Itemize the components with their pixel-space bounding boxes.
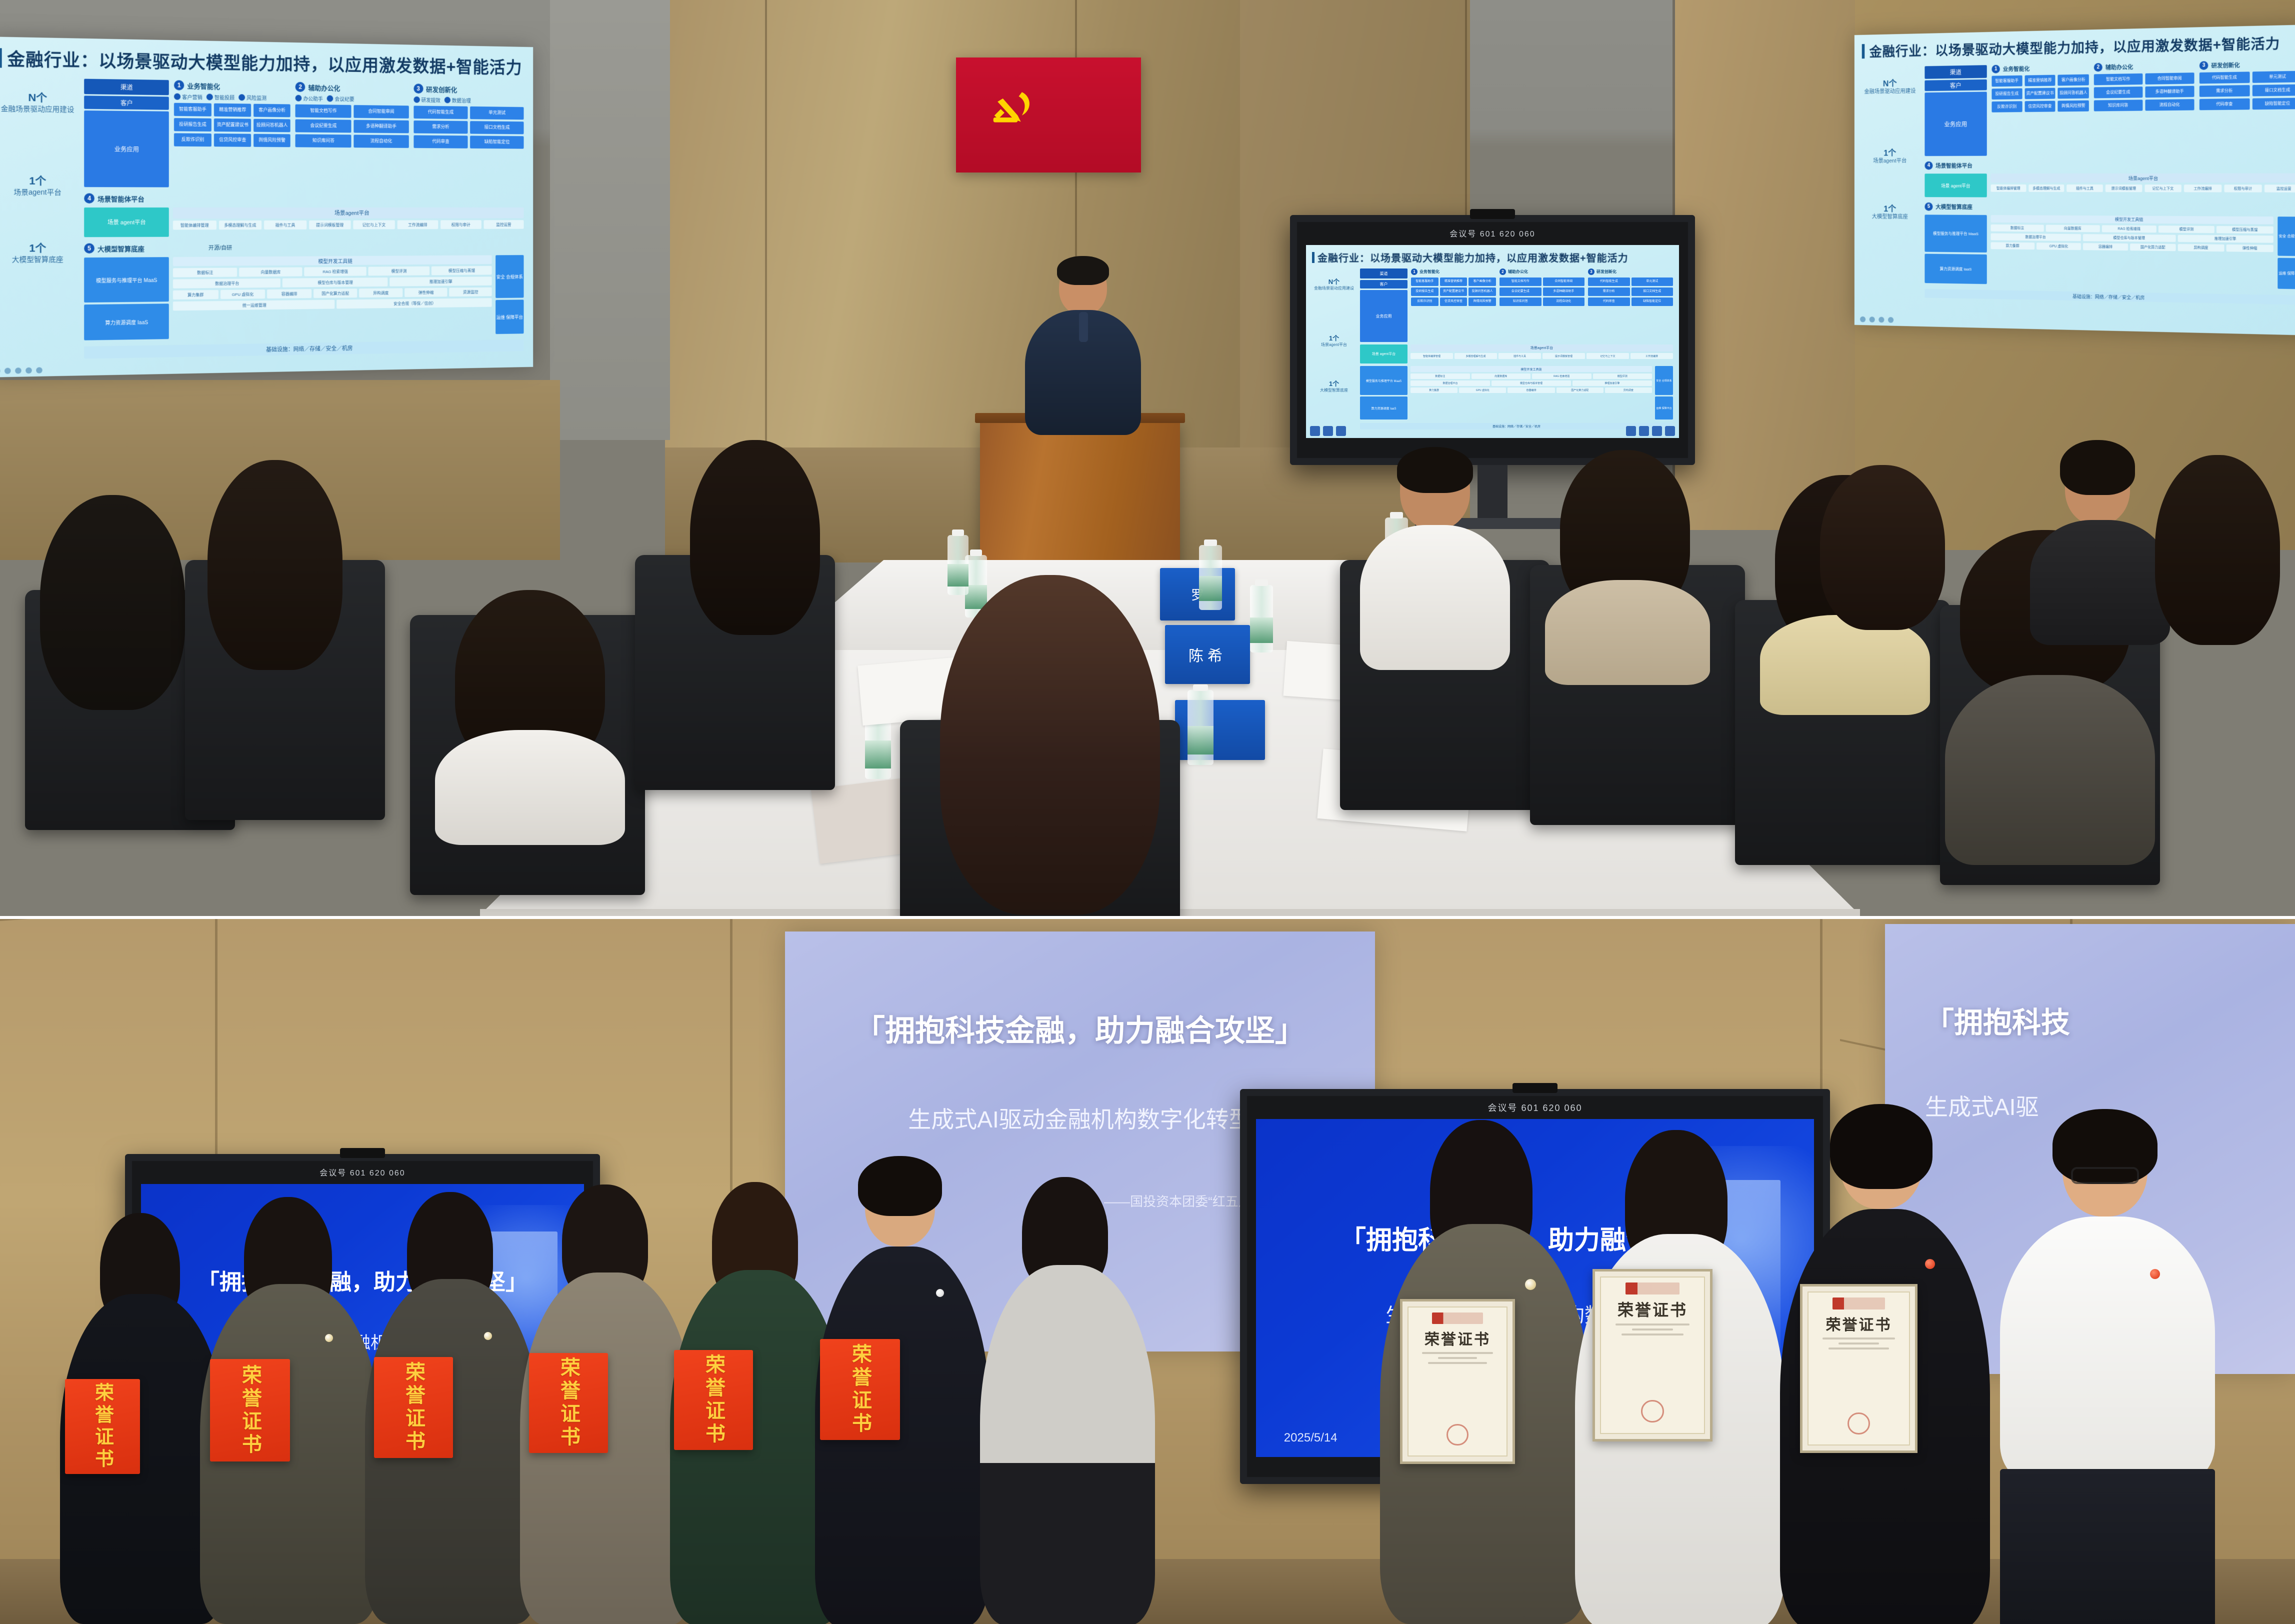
hammer-and-sickle-icon (982, 80, 1045, 133)
base-chip-row: 数据标注 向量数据库 RAG 检索增强 模型评测 (1410, 373, 1652, 379)
slide-toolbar[interactable] (1860, 316, 1893, 323)
base-note: 开源/自研 (208, 243, 232, 251)
tile: 知识库问答 (295, 134, 351, 147)
group-subheads: 客户营销 智能投顾 风险监测 (174, 92, 290, 101)
tile: 资产配置建议书 (2024, 88, 2055, 99)
agent-right: 场景agent平台 智能体编排管理 多模态理解与生成 插件与工具 提示词模板管理… (173, 207, 524, 237)
tv-display-panel: 金融行业：以场景驱动大模型能力加持，以应用激发数据+智能活力 N个 金融场景驱动… (1306, 245, 1679, 438)
tile: 舆情风险预警 (2058, 100, 2089, 112)
tile: 接口文档生成 (2252, 84, 2295, 96)
label-text: 场景agent平台 (0, 187, 77, 196)
tile: 缺陷智能定位 (1631, 297, 1673, 306)
label-text: 场景agent平台 (1312, 342, 1356, 347)
tile: 需求分析 (2199, 85, 2249, 97)
group-header: 2 辅助办公化 (295, 82, 409, 93)
base-chip: 数据治理平台 (173, 278, 280, 288)
torso (980, 1265, 1155, 1624)
tile-row: 代码审查 缺陷智能定位 (1588, 297, 1673, 306)
slide-right-column: 渠道 客户 业务应用 1 业务智能化 (1360, 268, 1673, 429)
base-side-cells: 安全 合规体系 运维 保障平台 (2277, 216, 2295, 289)
tv-meeting-id-label: 会议号 601 620 060 (132, 1166, 593, 1178)
scenario-cell-channel: 渠道 (84, 79, 169, 95)
official-seal (1847, 1412, 1869, 1434)
bullet-dot (174, 93, 180, 100)
scenario-row: 渠道 客户 业务应用 1 业务智能化 (1360, 268, 1673, 342)
name-placard-2: 陈希 (1165, 625, 1250, 684)
tile: 单元测试 (1631, 277, 1673, 286)
pen-icon[interactable] (0, 368, 0, 374)
agent-chip: 智能体编排管理 (173, 220, 216, 229)
tile-row: 投研报告生成 资产配置建议书 投顾问答机器人 (1411, 287, 1496, 296)
tile: 单元测试 (470, 106, 523, 120)
base-chip: 模型仓库与版本管理 (2083, 234, 2176, 242)
tile-row: 代码智能生成 单元测试 (2199, 71, 2295, 84)
tile-row: 智能客服助手 精准营销推荐 客户画像分析 (174, 103, 290, 117)
slide-body: N个 金融场景驱动应用建设 1个 场景agent平台 1个 大模型智算底座 (0, 77, 523, 360)
tile-row: 投研报告生成 资产配置建议书 投顾问答机器人 (174, 118, 290, 132)
subhead: 研发提效 (413, 96, 440, 103)
base-chip: 算力集群 (1410, 387, 1457, 393)
tile: 流程自动化 (1543, 297, 1585, 306)
base-chip: 资源监控 (449, 287, 492, 296)
scenario-group-3: 3 研发创新化 代码智能生成 单元测试 (1588, 268, 1673, 342)
agent-chip: 权限与审计 (440, 220, 481, 229)
projection-screen-left: 金融行业：以场景驱动大模型能力加持，以应用激发数据+智能活力 N个 金融场景驱动… (0, 36, 533, 377)
search-icon[interactable] (15, 367, 21, 374)
certificate-red: 荣誉证书 (529, 1353, 608, 1453)
section-name: 场景智能体平台 (97, 193, 144, 203)
base-side-cells: 安全 合规体系 运维 保障平台 (1655, 366, 1673, 419)
tile: 接口文档生成 (1631, 287, 1673, 296)
section-name: 大模型智算底座 (97, 243, 144, 253)
group-name: 研发创新化 (426, 84, 457, 93)
agent-platform-cell: 场景 agent平台 (1360, 344, 1407, 363)
subhead-label: 客户营销 (182, 93, 202, 101)
tile-grid: 代码智能生成 单元测试 需求分析 接口文档生成 代码审查 (413, 105, 523, 148)
subhead: 办公助手 (295, 94, 323, 102)
agent-chip: 提示词模板管理 (309, 220, 351, 229)
tile: 信贷风控审查 (214, 133, 251, 147)
tile: 投研报告生成 (1991, 88, 2022, 100)
agent-chip: 记忆与上下文 (1586, 353, 1629, 359)
slide-title-accent-bar (0, 48, 2, 67)
tile: 会议纪要生成 (2094, 86, 2142, 98)
agent-chip-row: 智能体编排管理 多模态理解与生成 插件与工具 提示词模板管理 记忆与上下文 工作… (173, 220, 524, 229)
camera-icon[interactable] (1639, 426, 1649, 436)
attendee-hair (690, 440, 820, 635)
group-header: 3 研发创新化 (413, 83, 523, 95)
base-chip: 向量数据库 (1471, 373, 1531, 379)
group-index-badge: 2 (295, 82, 305, 92)
tile-row: 智能文档写作 合同智能审阅 (2094, 72, 2194, 85)
tile-row: 知识库问答 流程自动化 (295, 134, 409, 148)
issuer-logo (1432, 1312, 1483, 1324)
more-icon[interactable] (36, 367, 42, 373)
tile-row: 会议纪要生成 多语种翻译助手 (1499, 287, 1584, 296)
slide-footer-bar: 基础设施：网络／存储／安全／机房 (84, 339, 523, 359)
base-chip-row: 数据治理平台 模型仓库与版本管理 推理加速引擎 (1410, 380, 1652, 386)
attendee (1810, 465, 1960, 685)
scenario-group-1: 1 业务智能化 客户营销 智能投顾 风险监测 (174, 80, 290, 187)
attendee-torso (1545, 580, 1710, 685)
pen-icon[interactable] (1860, 316, 1865, 322)
tile: 知识库问答 (1499, 297, 1541, 306)
base-chip: 模型仓库与版本管理 (1491, 380, 1571, 386)
tile: 客户画像分析 (1468, 277, 1496, 286)
base-chip: 统一运维管理 (173, 300, 334, 311)
party-flag (956, 57, 1141, 172)
base-chip: 数据治理平台 (1990, 233, 2080, 241)
tile: 投顾问答机器人 (1468, 287, 1496, 296)
tile-row: 智能文档写作 合同智能审阅 (1499, 277, 1584, 286)
section-index-badge: 4 (84, 193, 94, 203)
label-num: N个 (1312, 276, 1356, 286)
bottle-cap (952, 529, 964, 536)
certificate-red-text: 荣誉证书 (235, 1364, 264, 1456)
agent-row: 场景 agent平台 场景agent平台 智能体编排管理 多模态理解与生成 插件… (84, 207, 523, 237)
tile: 缺陷智能定位 (470, 135, 523, 148)
shape-icon[interactable] (25, 367, 32, 374)
attendee-hair (1820, 465, 1945, 630)
base-chip-row: 数据治理平台 模型仓库与版本管理 推理加速引擎 (173, 276, 492, 288)
more-icon[interactable] (1665, 426, 1675, 436)
base-chip-row: 数据标注 向量数据库 RAG 检索增强 模型评测 模型压缩与蒸馏 (1990, 224, 2273, 233)
subhead-label: 智能投顾 (214, 93, 234, 101)
attendee-hair (2155, 455, 2280, 645)
official-seal (1641, 1400, 1663, 1422)
tile: 客户画像分析 (253, 104, 290, 117)
base-chip: 弹性伸缩 (2226, 244, 2273, 252)
search-icon[interactable] (1336, 426, 1346, 436)
base-row: 模型服务与推理平台 MaaS 算力资源调度 IaaS 模型开发工具链 数据标注 … (1924, 214, 2295, 289)
scenario-groups: 1 业务智能化 智能客服助手 精准营销推荐 客户画像分析 (1411, 268, 1673, 342)
scenario-cell-customer: 客户 (1360, 280, 1407, 288)
name-placard-1: 罗 (1160, 568, 1235, 620)
torso (2000, 1216, 2215, 1481)
label-num: 1个 (1312, 378, 1356, 388)
certificate-inner: 荣誉证书 (1807, 1291, 1910, 1445)
certificate-red: 荣誉证书 (65, 1379, 140, 1474)
agent-platform-cell: 场景 agent平台 (84, 207, 169, 237)
attendee (2145, 455, 2295, 670)
tile: 合同智能审阅 (353, 105, 408, 118)
tile-row: 代码审查 缺陷智能定位 (413, 135, 523, 148)
base-chip: 推理加速引擎 (389, 276, 492, 286)
tile: 合同智能审阅 (1543, 277, 1585, 286)
tile: 知识库问答 (2094, 99, 2142, 111)
tile-grid: 智能客服助手 精准营销推荐 客户画像分析 投研报告生成 资产配置建议书 投顾问答… (174, 103, 290, 147)
tile: 投研报告生成 (174, 118, 211, 131)
subhead-label: 研发提效 (421, 96, 440, 103)
scenario-cell-channel: 渠道 (1360, 268, 1407, 278)
eyeglasses-icon (2071, 1167, 2139, 1184)
certificate-text-line (1838, 1342, 1878, 1344)
tile: 智能文档写作 (295, 104, 351, 118)
base-chip: RAG 检索增强 (2101, 225, 2156, 232)
scenario-groups: 1 业务智能化 客户营销 智能投顾 风险监测 (174, 80, 524, 188)
bottle-cap (1193, 684, 1207, 691)
attendee-hair (940, 575, 1160, 915)
subhead-label: 办公助手 (303, 94, 323, 102)
group-header: 2 辅助办公化 (2094, 61, 2194, 72)
slide-title-accent-bar (1312, 252, 1314, 263)
badge-pin-icon (1925, 1259, 1935, 1269)
mic-icon[interactable] (1626, 426, 1636, 436)
agent-chip-row: 智能体编排管理 多模态理解与生成 插件与工具 提示词模板管理 记忆与上下文 工作… (1410, 353, 1673, 359)
base-cell-iaas: 算力资源调度 IaaS (1924, 254, 1986, 284)
tv-meeting-id-label: 会议号 601 620 060 (1297, 227, 1688, 239)
tile-row: 智能客服助手 精准营销推荐 客户画像分析 (1411, 277, 1496, 286)
group-name: 辅助办公化 (308, 82, 340, 92)
tile-row: 反欺诈识别 信贷风控审查 舆情风险预警 (1411, 297, 1496, 306)
certificate-inner: 荣誉证书 (1407, 1306, 1507, 1456)
base-chip: 国产化算力适配 (313, 288, 357, 298)
scenario-cell-customer: 客户 (1924, 79, 1986, 91)
certificate-red: 荣誉证书 (820, 1339, 900, 1440)
agent-chip: 多模态理解与生成 (2028, 184, 2064, 192)
base-chip: 模型评测 (1593, 373, 1652, 379)
projection-title-partial: 「拥抱科技 (1925, 999, 2070, 1041)
base-side-security: 安全 合规体系 (495, 255, 523, 298)
section-name: 大模型智算底座 (1935, 203, 1972, 211)
subhead: 会议纪要 (327, 95, 354, 103)
bottle-label (865, 740, 891, 768)
base-chip: 容器编排 (2083, 243, 2128, 250)
scenario-cell-customer: 客户 (84, 95, 169, 109)
slide-title: 金融行业：以场景驱动大模型能力加持，以应用激发数据+智能活力 (1869, 32, 2280, 60)
base-chip: 安全合规（等保／信创） (336, 298, 492, 308)
badge-pin-icon (484, 1332, 492, 1340)
agent-chip: 监控运营 (483, 220, 523, 229)
scenario-cell-channel: 渠道 (1924, 65, 1986, 79)
attendee (435, 590, 625, 840)
agent-platform-bar: 场景agent平台 (1990, 173, 2295, 183)
tile: 投顾问答机器人 (253, 119, 290, 132)
microphone-icon (1079, 312, 1088, 342)
tile: 流程自动化 (353, 134, 408, 148)
panel-award-ceremony: 「拥抱科技金融，助力融合攻坚」 生成式AI驱动金融机构数字化转型 ——国投资本团… (0, 919, 2295, 1624)
section-index-badge: 4 (1924, 161, 1932, 170)
certificate-red-text: 荣誉证书 (554, 1357, 583, 1449)
base-chip: 国产化算力适配 (1556, 387, 1603, 393)
agent-section-header: 4 场景智能体平台 (1924, 160, 2295, 170)
eraser-icon[interactable] (1323, 426, 1333, 436)
base-left-cells: 模型服务与推理平台 MaaS 算力资源调度 IaaS (84, 257, 169, 340)
bottle-cap (1255, 579, 1268, 586)
base-bar-toolchain: 模型开发工具链 (1990, 215, 2273, 224)
tv-slide-date: 2025/5/14 (1284, 1431, 1337, 1445)
awardee-7-host (980, 1184, 1155, 1624)
slide-left: 金融行业：以场景驱动大模型能力加持，以应用激发数据+智能活力 N个 金融场景驱动… (0, 36, 533, 377)
group-subheads: 研发提效 数据治理 (413, 96, 523, 104)
tile: 智能客服助手 (1991, 75, 2022, 87)
base-chip-row: 算力集群 GPU 虚拟化 容器编排 国产化算力适配 异构调度 弹性伸缩 资源监控 (173, 287, 492, 299)
base-side-security: 安全 合规体系 (1655, 366, 1673, 395)
issuer-logo (1832, 1297, 1885, 1309)
base-chip-row: 统一运维管理 安全合规（等保／信创） (173, 298, 492, 310)
tile: 代码智能生成 (413, 105, 468, 119)
group-index-badge: 2 (1499, 268, 1506, 275)
tile: 反欺诈识别 (1991, 101, 2022, 112)
tile-row: 会议纪要生成 多语种翻译助手 (2094, 86, 2194, 98)
tile-row: 需求分析 接口文档生成 (1588, 287, 1673, 296)
base-chip: RAG 检索增强 (1532, 373, 1591, 379)
base-chip: 模型评测 (368, 266, 429, 276)
slide-left-label-2: 1个 大模型智算底座 (1312, 378, 1356, 393)
base-chip-row: 算力集群 GPU 虚拟化 容器编排 国产化算力适配 异构调度 弹性伸缩 (1990, 242, 2273, 252)
shape-icon[interactable] (1888, 317, 1893, 323)
group-index-badge: 3 (413, 83, 423, 93)
certificate-text-line (1615, 1323, 1689, 1325)
base-chip: GPU 虚拟化 (2036, 242, 2081, 250)
attendee (200, 460, 350, 675)
wall-wood-center (665, 0, 1240, 450)
slide-left-labels: N个 金融场景驱动应用建设 1个 场景agent平台 1个 大模型智算底座 (1862, 66, 1918, 298)
tile: 投研报告生成 (1411, 287, 1438, 296)
volume-icon[interactable] (1652, 426, 1662, 436)
certificate-framed: 荣誉证书 (1592, 1269, 1712, 1441)
base-chip: 异构调度 (359, 288, 402, 297)
base-chip: 异构调度 (1605, 387, 1652, 393)
tile: 智能文档写作 (2094, 73, 2142, 85)
tile: 需求分析 (1588, 287, 1630, 296)
agent-section-header: 4 场景智能体平台 (84, 193, 523, 203)
base-right: 模型开发工具链 数据标注 向量数据库 RAG 检索增强 模型评测 模型压缩与蒸馏 (1990, 215, 2273, 288)
label-num: N个 (0, 89, 77, 105)
attendee-hair (2060, 440, 2135, 495)
base-chip: 算力集群 (173, 290, 218, 299)
certificate-red-text: 荣誉证书 (399, 1361, 428, 1453)
label-num: 1个 (1862, 145, 1918, 158)
slide-right: 金融行业：以场景驱动大模型能力加持，以应用激发数据+智能活力 N个 金融场景驱动… (1854, 24, 2295, 335)
label-text: 大模型智算底座 (1862, 213, 1918, 220)
pen-icon[interactable] (1310, 426, 1320, 436)
base-cell-maas: 模型服务与推理平台 MaaS (1924, 214, 1986, 252)
group-header: 3 研发创新化 (2199, 59, 2295, 70)
badge-pin-icon (325, 1334, 333, 1342)
agent-chip: 多模态理解与生成 (1454, 353, 1497, 359)
base-chip: 算力集群 (1990, 242, 2034, 249)
group-name: 研发创新化 (1596, 269, 1616, 274)
attendee (30, 495, 195, 710)
group-name: 业务智能化 (1419, 269, 1439, 274)
base-right: 模型开发工具链 数据标注 向量数据库 RAG 检索增强 模型评测 模型压缩与蒸馏 (173, 255, 492, 339)
camera-icon (1470, 209, 1515, 219)
base-chip: 容器编排 (267, 289, 311, 298)
water-bottle (1187, 690, 1213, 765)
label-num: 1个 (0, 172, 77, 187)
tv-left-controls[interactable] (1310, 426, 1346, 436)
agent-row: 场景 agent平台 场景agent平台 智能体编排管理 多模态理解与生成 插件… (1360, 344, 1673, 363)
scenario-row: 渠道 客户 业务应用 1 业务智能化 (1924, 59, 2295, 156)
eraser-icon[interactable] (4, 367, 11, 374)
slide-left-label-2: 1个 大模型智算底座 (1862, 201, 1918, 220)
group-name: 辅助办公化 (2105, 62, 2133, 71)
base-cell-iaas: 算力资源调度 IaaS (1360, 396, 1407, 419)
tile: 缺陷智能定位 (2252, 97, 2295, 109)
certificate-red: 荣誉证书 (374, 1357, 453, 1458)
tile: 流程自动化 (2145, 99, 2194, 110)
tile: 代码审查 (1588, 297, 1630, 306)
tile-row: 需求分析 接口文档生成 (413, 120, 523, 134)
certificate-heading: 荣誉证书 (1826, 1312, 1892, 1334)
tile: 精准营销推荐 (1440, 277, 1467, 286)
group-name: 研发创新化 (2211, 61, 2240, 69)
badge-pin-icon (2150, 1269, 2160, 1279)
panel-conference-presentation: 金融行业：以场景驱动大模型能力加持，以应用激发数据+智能活力 N个 金融场景驱动… (0, 0, 2295, 916)
tile-row: 代码审查 缺陷智能定位 (2199, 97, 2295, 110)
base-cell-maas: 模型服务与推理平台 MaaS (84, 257, 169, 302)
certificate-text-line (1621, 1333, 1683, 1335)
scenario-groups: 1 业务智能化 智能客服助手 精准营销推荐 客户画像分析 (1991, 59, 2295, 156)
slide-title-accent-bar (1862, 44, 1865, 58)
agent-chip: 记忆与上下文 (2144, 184, 2181, 192)
slide-title: 金融行业：以场景驱动大模型能力加持，以应用激发数据+智能活力 (1317, 250, 1628, 264)
base-chip: 向量数据库 (2046, 225, 2100, 232)
base-chip-row: 数据标注 向量数据库 RAG 检索增强 模型评测 模型压缩与蒸馏 (173, 266, 492, 277)
subhead-label: 数据治理 (452, 96, 471, 104)
awardee-11-presenter (2000, 1119, 2215, 1624)
agent-chip: 工作流编排 (1630, 353, 1673, 359)
scenario-group-2: 2 辅助办公化 办公助手 会议纪要 智能文 (295, 82, 409, 188)
search-icon[interactable] (1878, 317, 1884, 323)
tile: 会议纪要生成 (1499, 287, 1541, 296)
certificate-framed: 荣誉证书 (1800, 1284, 1917, 1453)
tile: 精准营销推荐 (214, 103, 251, 117)
certificate-text-line (1632, 1328, 1673, 1330)
slide-right-column: 渠道 客户 业务应用 1 业务智能化 (1924, 59, 2295, 305)
speaker-presenter (1020, 260, 1145, 430)
base-cell-iaas: 算力资源调度 IaaS (84, 303, 169, 340)
tile: 资产配置建议书 (214, 118, 251, 132)
tile: 资产配置建议书 (1440, 287, 1467, 296)
section-index-badge: 5 (84, 243, 94, 253)
certificate-text-line (1438, 1357, 1477, 1359)
slide-footer-bar: 基础设施：网络／存储／安全／机房 (1924, 289, 2295, 305)
tile-row: 反欺诈识别 信贷风控审查 舆情风险预警 (174, 133, 290, 147)
bullet-dot (327, 95, 333, 102)
scenario-group-2: 2 辅助办公化 智能文档写作 合同智能审阅 (1499, 268, 1584, 342)
agent-chip: 权限与审计 (2224, 184, 2262, 192)
tv-control-bar[interactable] (1310, 426, 1675, 436)
label-text: 金融场景驱动应用建设 (0, 104, 77, 114)
agent-platform-bar: 场景agent平台 (1410, 344, 1673, 351)
certificate-text-line (1422, 1352, 1492, 1354)
camera-icon (340, 1148, 385, 1158)
label-text: 场景agent平台 (1862, 158, 1918, 165)
tile-row: 代码智能生成 单元测试 (413, 105, 523, 119)
base-chip: GPU 虚拟化 (220, 289, 265, 299)
tv-right-controls[interactable] (1626, 426, 1675, 436)
tile: 合同智能审阅 (2145, 72, 2194, 84)
slide-body: N个 金融场景驱动应用建设 1个 场景agent平台 1个 大模型智算底座 (1862, 59, 2295, 305)
tile-row: 知识库问答 流程自动化 (2094, 99, 2194, 111)
hair (858, 1156, 942, 1216)
projection-screen-right: 金融行业：以场景驱动大模型能力加持，以应用激发数据+智能活力 N个 金融场景驱动… (1854, 24, 2295, 335)
eraser-icon[interactable] (1869, 316, 1875, 322)
tile-row: 需求分析 接口文档生成 (2199, 84, 2295, 97)
scenario-row: 渠道 客户 业务应用 1 业务智能化 (84, 79, 523, 188)
bottle-cap (970, 549, 982, 556)
certificate-heading: 荣誉证书 (1424, 1327, 1490, 1349)
certificate-red-text: 荣誉证书 (699, 1354, 728, 1446)
certificate-heading: 荣誉证书 (1617, 1297, 1687, 1320)
base-row: 模型服务与推理平台 MaaS 算力资源调度 IaaS 模型开发工具链 数据标注 … (84, 255, 523, 340)
attendee (685, 440, 825, 640)
slide-toolbar[interactable] (0, 367, 42, 374)
slide-left-label-0: N个 金融场景驱动应用建设 (1862, 76, 1918, 95)
tile: 智能文档写作 (1499, 277, 1541, 286)
